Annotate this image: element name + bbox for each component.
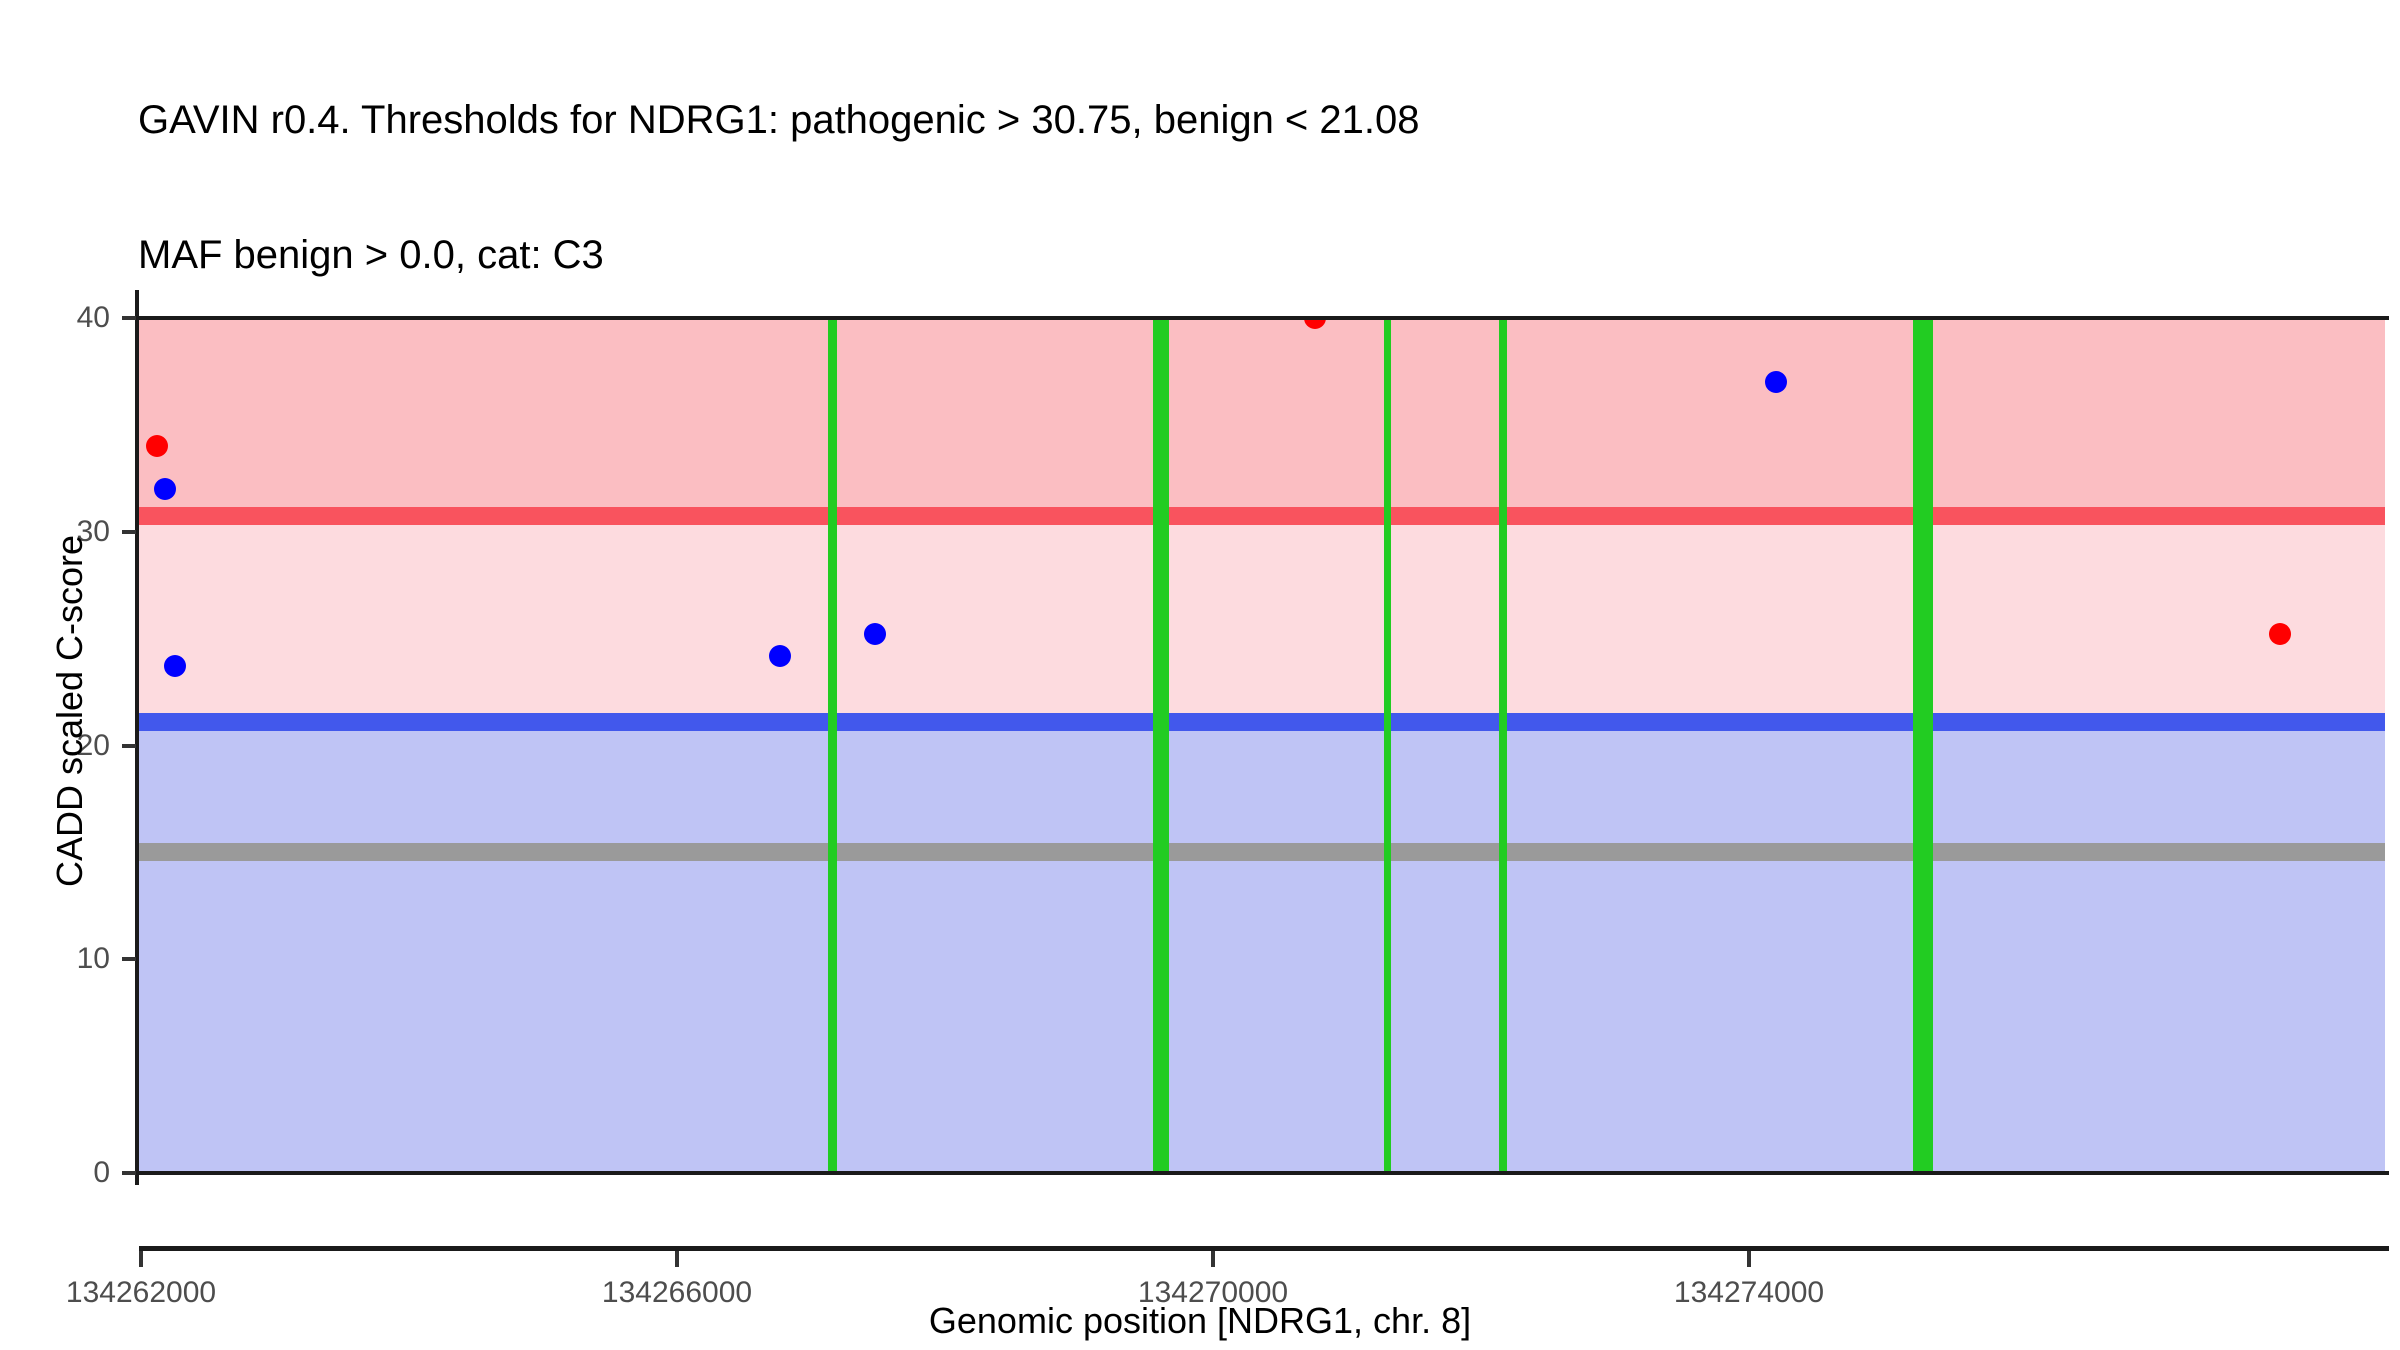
y-axis-tick-label: 40	[40, 301, 110, 335]
refseq-exon-line	[1153, 318, 1169, 1173]
gnomad-variant-point	[1765, 371, 1787, 393]
y-axis-tick-label: 0	[40, 1156, 110, 1190]
y-axis-tick	[122, 744, 136, 748]
refseq-exon-line	[828, 318, 837, 1173]
plot-area	[139, 318, 2385, 1173]
refseq-exon-line	[1913, 318, 1933, 1173]
x-axis-outer-line	[139, 1246, 2389, 1251]
chart-page: GAVIN r0.4. Thresholds for NDRG1: pathog…	[0, 0, 2400, 1350]
y-axis-tick	[122, 957, 136, 961]
vus-zone	[139, 516, 2385, 723]
gnomad-variant-point	[864, 623, 886, 645]
clinvar-pathogenic-point	[146, 435, 168, 457]
refseq-exon-line	[1499, 318, 1507, 1173]
pathogenic-threshold-line	[139, 507, 2385, 525]
y-axis-tick	[122, 530, 136, 534]
y-axis-line	[135, 290, 139, 1185]
y-axis-tick	[122, 316, 136, 320]
clinvar-pathogenic-point	[2269, 623, 2291, 645]
x-axis-line	[139, 1171, 2389, 1175]
fallback-threshold-line	[139, 843, 2385, 861]
title-line-thresholds: GAVIN r0.4. Thresholds for NDRG1: pathog…	[138, 98, 2238, 143]
benign-threshold-line	[139, 713, 2385, 731]
pathogenic-zone	[139, 318, 2385, 516]
gnomad-variant-point	[164, 655, 186, 677]
x-axis-tick	[139, 1251, 143, 1267]
y-axis-tick	[122, 1171, 136, 1175]
y-axis-label: CADD scaled C-score	[49, 401, 91, 1021]
refseq-exon-line	[1384, 318, 1391, 1173]
x-axis-tick	[1747, 1251, 1751, 1267]
x-axis-label: Genomic position [NDRG1, chr. 8]	[0, 1300, 2400, 1342]
title-line-maf: MAF benign > 0.0, cat: C3	[138, 233, 2238, 278]
benign-zone	[139, 722, 2385, 1173]
plot-top-border	[139, 316, 2389, 320]
x-axis-tick	[675, 1251, 679, 1267]
gnomad-variant-point	[769, 645, 791, 667]
x-axis-tick	[1211, 1251, 1215, 1267]
gnomad-variant-point	[154, 478, 176, 500]
